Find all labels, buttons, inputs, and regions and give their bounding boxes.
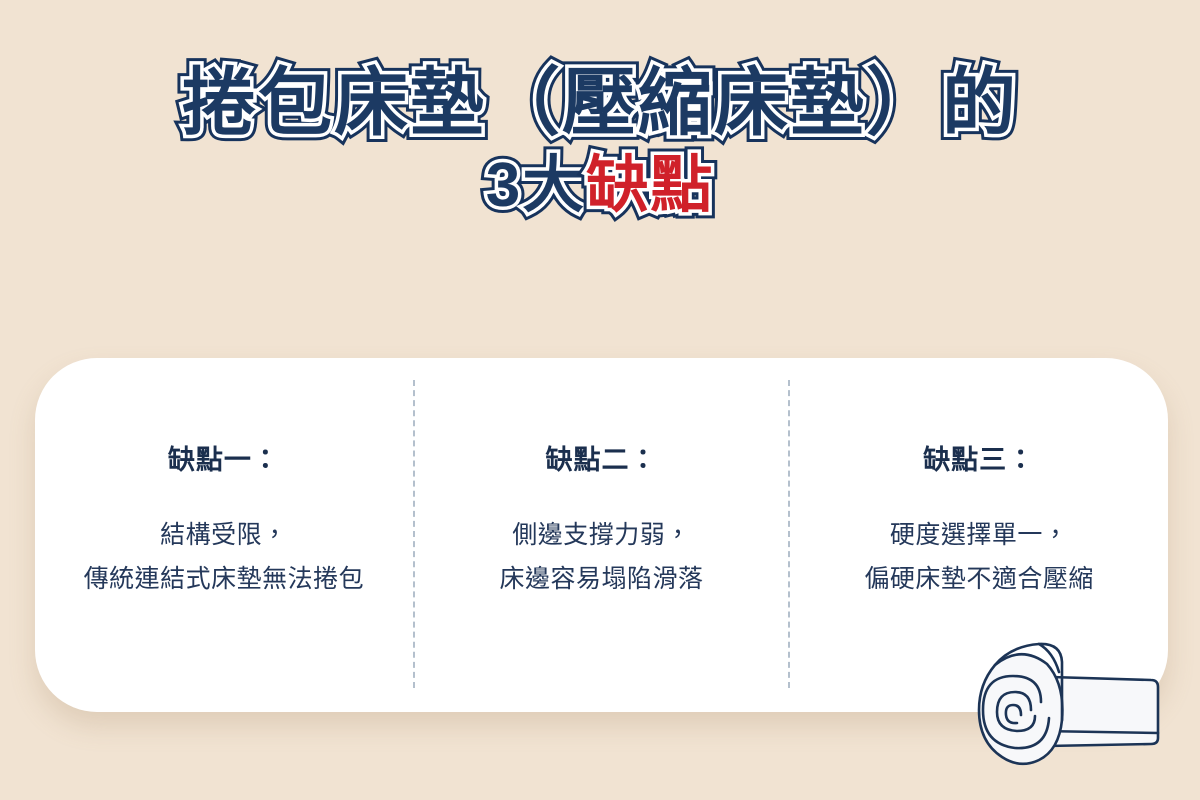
drawback-heading-2: 缺點二： bbox=[427, 444, 777, 476]
drawback-body-1-line-2: 傳統連結式床墊無法捲包 bbox=[49, 558, 399, 602]
subtitle-prefix-fill: 3大 bbox=[486, 151, 586, 220]
page-subtitle: 3大 3大 3大 缺點 缺點 缺點 bbox=[0, 151, 1200, 220]
drawback-body-2-line-1: 側邊支撐力弱， bbox=[427, 514, 777, 558]
drawback-body-1-line-1: 結構受限， bbox=[49, 514, 399, 558]
drawback-body-3-line-2: 偏硬床墊不適合壓縮 bbox=[804, 558, 1154, 602]
drawback-body-3: 硬度選擇單一， 偏硬床墊不適合壓縮 bbox=[804, 514, 1154, 602]
drawback-column-3: 缺點三： 硬度選擇單一， 偏硬床墊不適合壓縮 bbox=[790, 358, 1168, 602]
drawback-body-3-line-1: 硬度選擇單一， bbox=[804, 514, 1154, 558]
subtitle-prefix: 3大 3大 3大 bbox=[486, 151, 586, 220]
page-title: 捲包床墊（壓縮床墊）的 捲包床墊（壓縮床墊）的 捲包床墊（壓縮床墊）的 bbox=[0, 62, 1200, 145]
drawback-body-2-line-2: 床邊容易塌陷滑落 bbox=[427, 558, 777, 602]
drawbacks-card: 缺點一： 結構受限， 傳統連結式床墊無法捲包 缺點二： 側邊支撐力弱， 床邊容易… bbox=[35, 358, 1168, 712]
column-divider-1 bbox=[413, 380, 415, 688]
drawback-body-2: 側邊支撐力弱， 床邊容易塌陷滑落 bbox=[427, 514, 777, 602]
title-line-1: 捲包床墊（壓縮床墊）的 捲包床墊（壓縮床墊）的 捲包床墊（壓縮床墊）的 bbox=[182, 62, 1018, 145]
subtitle-highlight-fill: 缺點 bbox=[586, 151, 714, 220]
title-line-1-fill: 捲包床墊（壓縮床墊）的 bbox=[182, 62, 1018, 145]
infographic-canvas: 捲包床墊（壓縮床墊）的 捲包床墊（壓縮床墊）的 捲包床墊（壓縮床墊）的 3大 3… bbox=[0, 0, 1200, 800]
drawback-column-2: 缺點二： 側邊支撐力弱， 床邊容易塌陷滑落 bbox=[413, 358, 791, 602]
drawback-heading-3: 缺點三： bbox=[804, 444, 1154, 476]
drawback-column-1: 缺點一： 結構受限， 傳統連結式床墊無法捲包 bbox=[35, 358, 413, 602]
subtitle-highlight: 缺點 缺點 缺點 bbox=[586, 151, 714, 220]
column-divider-2 bbox=[788, 380, 790, 688]
drawback-heading-1: 缺點一： bbox=[49, 444, 399, 476]
drawbacks-columns: 缺點一： 結構受限， 傳統連結式床墊無法捲包 缺點二： 側邊支撐力弱， 床邊容易… bbox=[35, 358, 1168, 712]
drawback-body-1: 結構受限， 傳統連結式床墊無法捲包 bbox=[49, 514, 399, 602]
title-block: 捲包床墊（壓縮床墊）的 捲包床墊（壓縮床墊）的 捲包床墊（壓縮床墊）的 3大 3… bbox=[0, 62, 1200, 220]
